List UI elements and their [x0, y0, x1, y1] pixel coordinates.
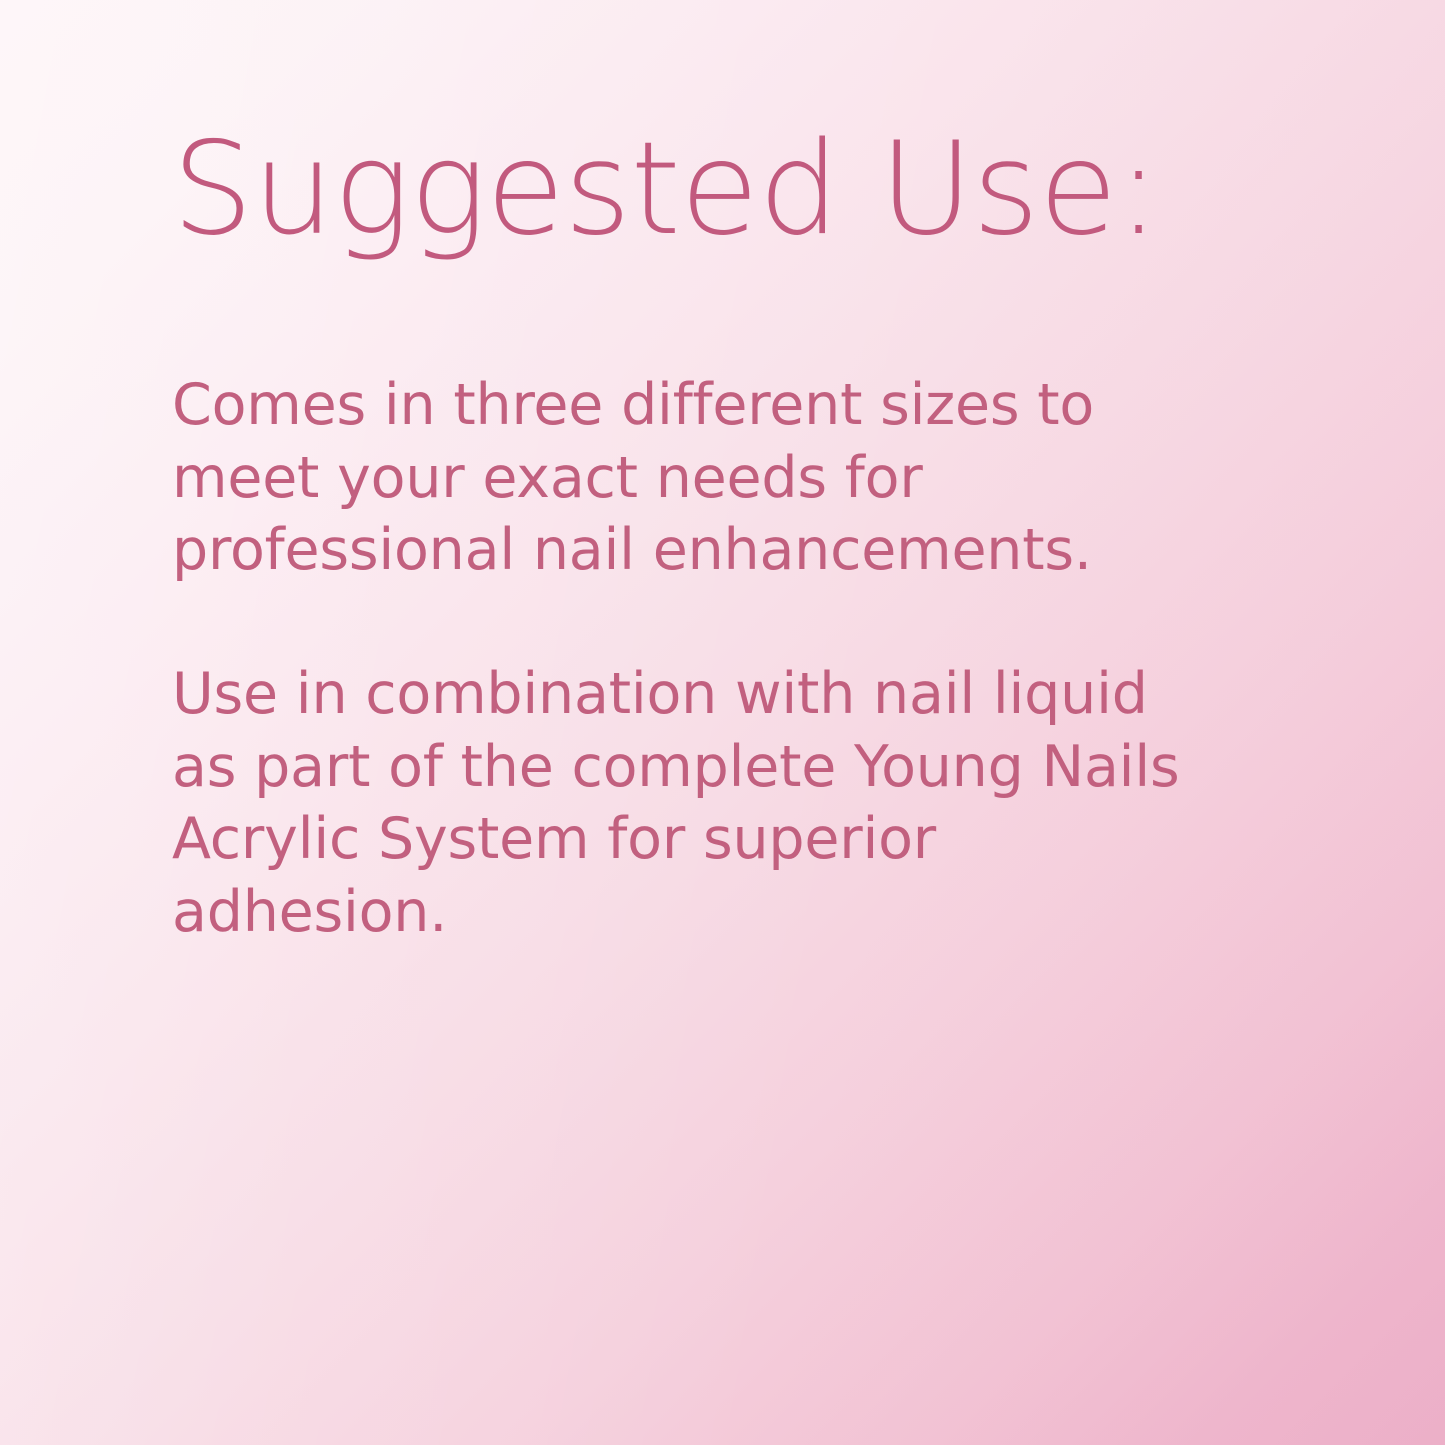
paragraph-usage: Use in combination with nail liquid as p…: [172, 658, 1212, 948]
suggested-use-card: Suggested Use: Comes in three different …: [0, 0, 1445, 1445]
paragraph-sizes: Comes in three different sizes to meet y…: [172, 369, 1212, 586]
content-block: Suggested Use: Comes in three different …: [172, 118, 1247, 948]
page-title: Suggested Use:: [172, 118, 1247, 261]
body-text-block: Comes in three different sizes to meet y…: [172, 369, 1247, 948]
